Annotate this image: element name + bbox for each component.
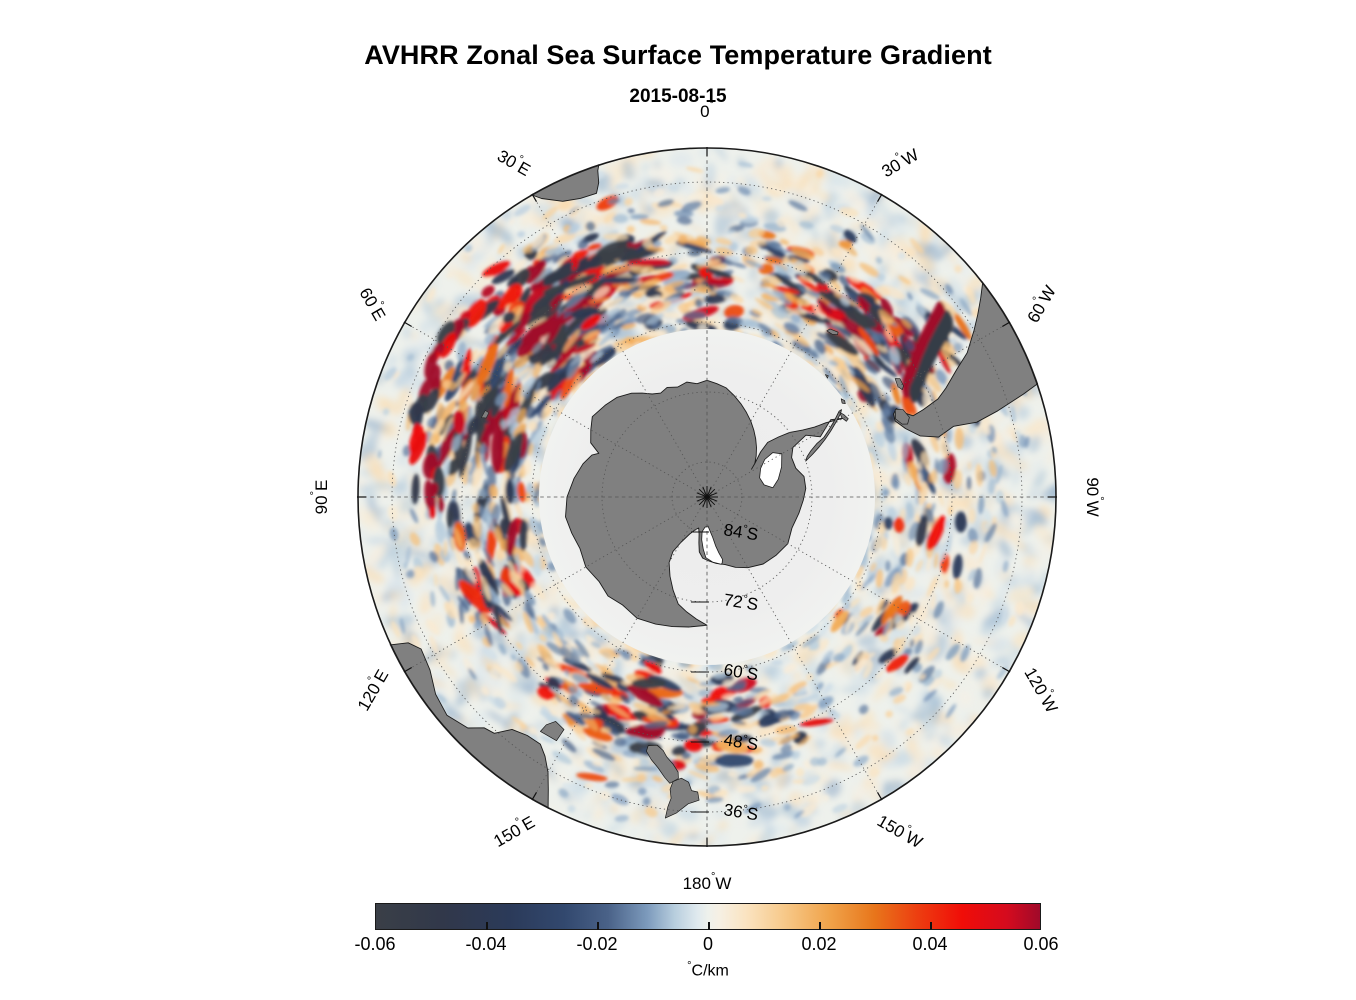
colorbar-tick-label: -0.06 <box>315 934 435 955</box>
map-svg: 0°30°E60°E90°E120°E150°E180°W150°W120°W9… <box>357 147 1057 847</box>
longitude-label: 30°W <box>877 142 922 180</box>
colorbar-tick-label: -0.02 <box>537 934 657 955</box>
colorbar-tick-label: 0.04 <box>870 934 990 955</box>
colorbar-tick <box>819 922 821 930</box>
longitude-label: 90°E <box>309 480 331 515</box>
figure-canvas: AVHRR Zonal Sea Surface Temperature Grad… <box>0 0 1356 1000</box>
figure-title: AVHRR Zonal Sea Surface Temperature Grad… <box>0 40 1356 71</box>
south-pole-marker <box>696 486 718 508</box>
colorbar-unit-label: °C/km <box>375 960 1041 980</box>
longitude-label: 120°W <box>1021 663 1064 716</box>
colorbar-tick-label: -0.04 <box>426 934 546 955</box>
colorbar-tick-label: 0 <box>648 934 768 955</box>
colorbar-ticks <box>375 903 1041 930</box>
longitude-label: 150°E <box>489 810 538 851</box>
colorbar-tick <box>486 922 488 930</box>
longitude-label: 150°W <box>874 809 927 852</box>
colorbar-tick-label: 0.06 <box>981 934 1101 955</box>
polar-map: 0°30°E60°E90°E120°E150°E180°W150°W120°W9… <box>357 147 1057 847</box>
longitude-label: 90°W <box>1084 477 1106 516</box>
longitude-label: 60°W <box>1021 281 1059 326</box>
longitude-label: 60°E <box>356 283 392 324</box>
colorbar: -0.06-0.04-0.0200.020.040.06 °C/km <box>375 903 1041 993</box>
figure-subtitle: 2015-08-15 <box>0 86 1356 108</box>
colorbar-tick-labels: -0.06-0.04-0.0200.020.040.06 <box>315 934 1101 958</box>
colorbar-tick <box>597 922 599 930</box>
colorbar-tick <box>708 922 710 930</box>
unit-text: C/km <box>692 962 729 979</box>
longitude-label: 30°E <box>494 144 535 180</box>
colorbar-tick <box>930 922 932 930</box>
longitude-label: 0° <box>700 99 714 121</box>
colorbar-tick-label: 0.02 <box>759 934 879 955</box>
longitude-label: 180°W <box>683 871 732 893</box>
longitude-label: 120°E <box>351 665 392 714</box>
